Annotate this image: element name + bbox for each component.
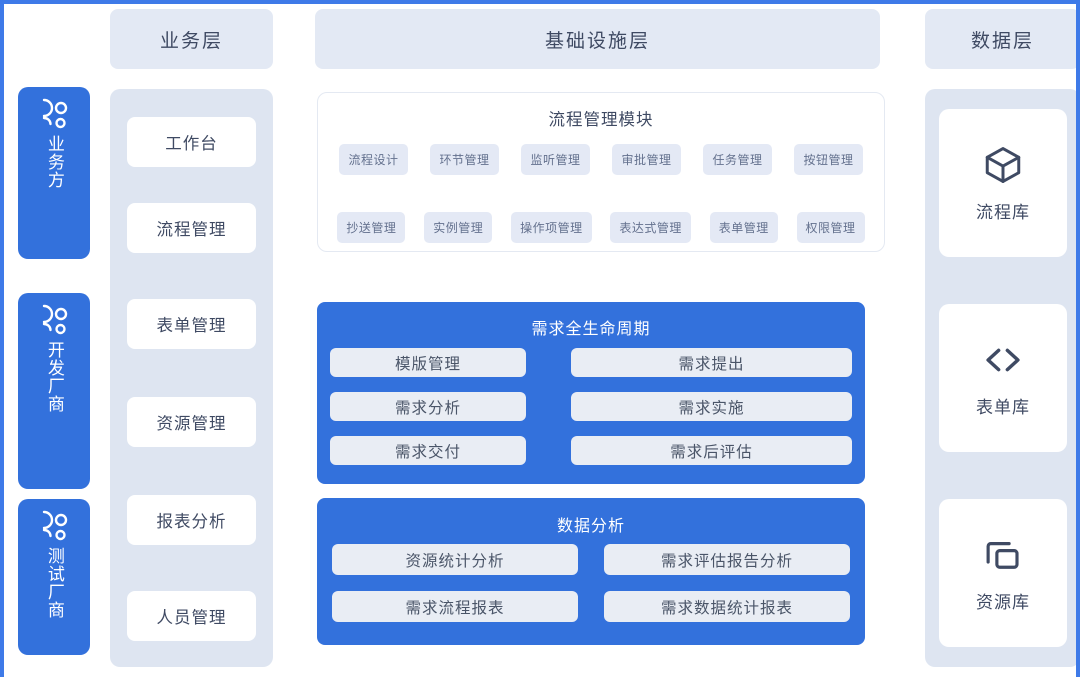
business-item-form-management[interactable]: 表单管理 [127,299,256,349]
actor-label-test-vendor: 测试厂商 [43,547,65,619]
process-tag-listener-management[interactable]: 监听管理 [521,144,589,175]
users-icon [39,303,69,337]
lifecycle-chip-template-management[interactable]: 模版管理 [330,348,526,377]
users-icon [39,97,69,131]
process-tag-permission-management[interactable]: 权限管理 [797,212,865,243]
lifecycle-chip-requirement-implementation[interactable]: 需求实施 [571,392,852,421]
actor-rail: 业务方 开发厂商 测试厂商 [12,4,96,677]
process-module-tag-row-2: 抄送管理 实例管理 操作项管理 表达式管理 表单管理 权限管理 [318,212,884,243]
data-card-process-repository[interactable]: 流程库 [939,109,1067,257]
analysis-chip-requirement-process-report[interactable]: 需求流程报表 [332,591,578,622]
business-item-label: 资源管理 [157,410,227,434]
analysis-chip-resource-statistics[interactable]: 资源统计分析 [332,544,578,575]
lifecycle-chip-post-requirement-evaluation[interactable]: 需求后评估 [571,436,852,465]
data-analysis-panel: 数据分析 资源统计分析 需求评估报告分析 需求流程报表 需求数据统计报表 [317,498,865,645]
analysis-panel-title: 数据分析 [317,512,865,536]
process-tag-approval-management[interactable]: 审批管理 [612,144,680,175]
data-card-resource-repository[interactable]: 资源库 [939,499,1067,647]
process-tag-operation-item-management[interactable]: 操作项管理 [511,212,592,243]
process-tag-button-management[interactable]: 按钮管理 [794,144,862,175]
business-item-label: 表单管理 [157,312,227,336]
business-item-personnel-management[interactable]: 人员管理 [127,591,256,641]
process-tag-cc-management[interactable]: 抄送管理 [337,212,405,243]
process-module-tag-row-1: 流程设计 环节管理 监听管理 审批管理 任务管理 按钮管理 [318,144,884,175]
process-tag-task-management[interactable]: 任务管理 [703,144,771,175]
actor-card-dev-vendor[interactable]: 开发厂商 [18,293,90,489]
lifecycle-chip-grid: 模版管理 需求提出 需求分析 需求实施 需求交付 需求后评估 [330,348,852,465]
layer-header-business: 业务层 [110,9,273,69]
requirement-lifecycle-panel: 需求全生命周期 模版管理 需求提出 需求分析 需求实施 需求交付 需求后评估 [317,302,865,484]
business-item-label: 流程管理 [157,216,227,240]
business-item-resource-management[interactable]: 资源管理 [127,397,256,447]
process-tag-expression-management[interactable]: 表达式管理 [610,212,691,243]
process-tag-form-management[interactable]: 表单管理 [710,212,778,243]
data-layer-column: 流程库 表单库 资源库 [925,89,1080,667]
business-layer-column: 工作台 流程管理 表单管理 资源管理 报表分析 人员管理 [110,89,273,667]
process-tag-flow-design[interactable]: 流程设计 [339,144,407,175]
business-item-label: 工作台 [165,130,218,154]
layer-header-business-label: 业务层 [160,26,223,53]
analysis-chip-requirement-evaluation-report[interactable]: 需求评估报告分析 [604,544,850,575]
business-item-report-analysis[interactable]: 报表分析 [127,495,256,545]
data-card-form-repository[interactable]: 表单库 [939,304,1067,452]
actor-card-business-side[interactable]: 业务方 [18,87,90,259]
analysis-chip-grid: 资源统计分析 需求评估报告分析 需求流程报表 需求数据统计报表 [332,544,850,622]
layer-header-data: 数据层 [925,9,1080,69]
process-tag-instance-management[interactable]: 实例管理 [424,212,492,243]
business-item-label: 人员管理 [157,604,227,628]
data-card-label: 流程库 [976,198,1030,223]
business-item-process-management[interactable]: 流程管理 [127,203,256,253]
process-tag-node-management[interactable]: 环节管理 [430,144,498,175]
lifecycle-chip-requirement-analysis[interactable]: 需求分析 [330,392,526,421]
data-card-label: 表单库 [976,393,1030,418]
architecture-diagram: 业务层 基础设施层 数据层 业务方 开发厂商 [0,0,1080,677]
code-brackets-icon [982,339,1024,381]
copy-layers-icon [982,534,1024,576]
layer-header-data-label: 数据层 [971,26,1034,53]
cube-icon [982,144,1024,186]
lifecycle-chip-requirement-submission[interactable]: 需求提出 [571,348,852,377]
lifecycle-chip-requirement-delivery[interactable]: 需求交付 [330,436,526,465]
business-item-label: 报表分析 [157,508,227,532]
actor-label-business-side: 业务方 [43,135,65,189]
users-icon [39,509,69,543]
data-card-label: 资源库 [976,588,1030,613]
infrastructure-layer-column: 流程管理模块 流程设计 环节管理 监听管理 审批管理 任务管理 按钮管理 抄送管… [289,74,909,674]
layer-header-infrastructure-label: 基础设施层 [545,26,650,53]
analysis-chip-requirement-data-statistics-report[interactable]: 需求数据统计报表 [604,591,850,622]
process-management-module-panel: 流程管理模块 流程设计 环节管理 监听管理 审批管理 任务管理 按钮管理 抄送管… [317,92,885,252]
lifecycle-panel-title: 需求全生命周期 [317,315,865,339]
actor-label-dev-vendor: 开发厂商 [43,341,65,413]
layer-header-infrastructure: 基础设施层 [315,9,880,69]
process-module-title: 流程管理模块 [318,106,884,130]
business-item-workbench[interactable]: 工作台 [127,117,256,167]
actor-card-test-vendor[interactable]: 测试厂商 [18,499,90,655]
